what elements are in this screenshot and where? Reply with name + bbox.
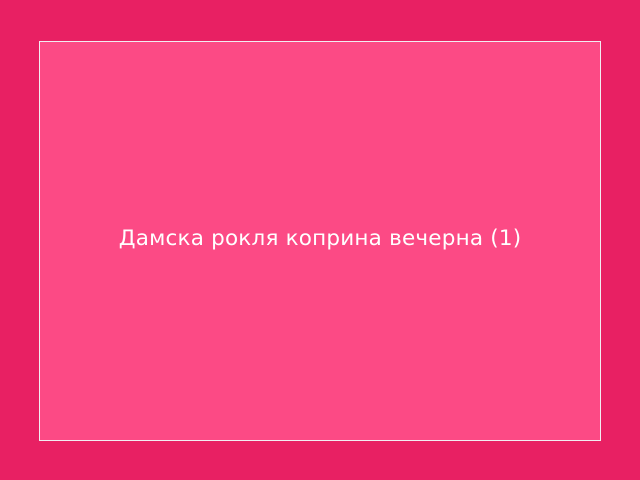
image-placeholder-panel: Дамска рокля коприна вечерна (1) — [39, 41, 601, 441]
image-caption-text: Дамска рокля коприна вечерна (1) — [40, 226, 600, 252]
placeholder-canvas: Дамска рокля коприна вечерна (1) — [0, 0, 640, 480]
